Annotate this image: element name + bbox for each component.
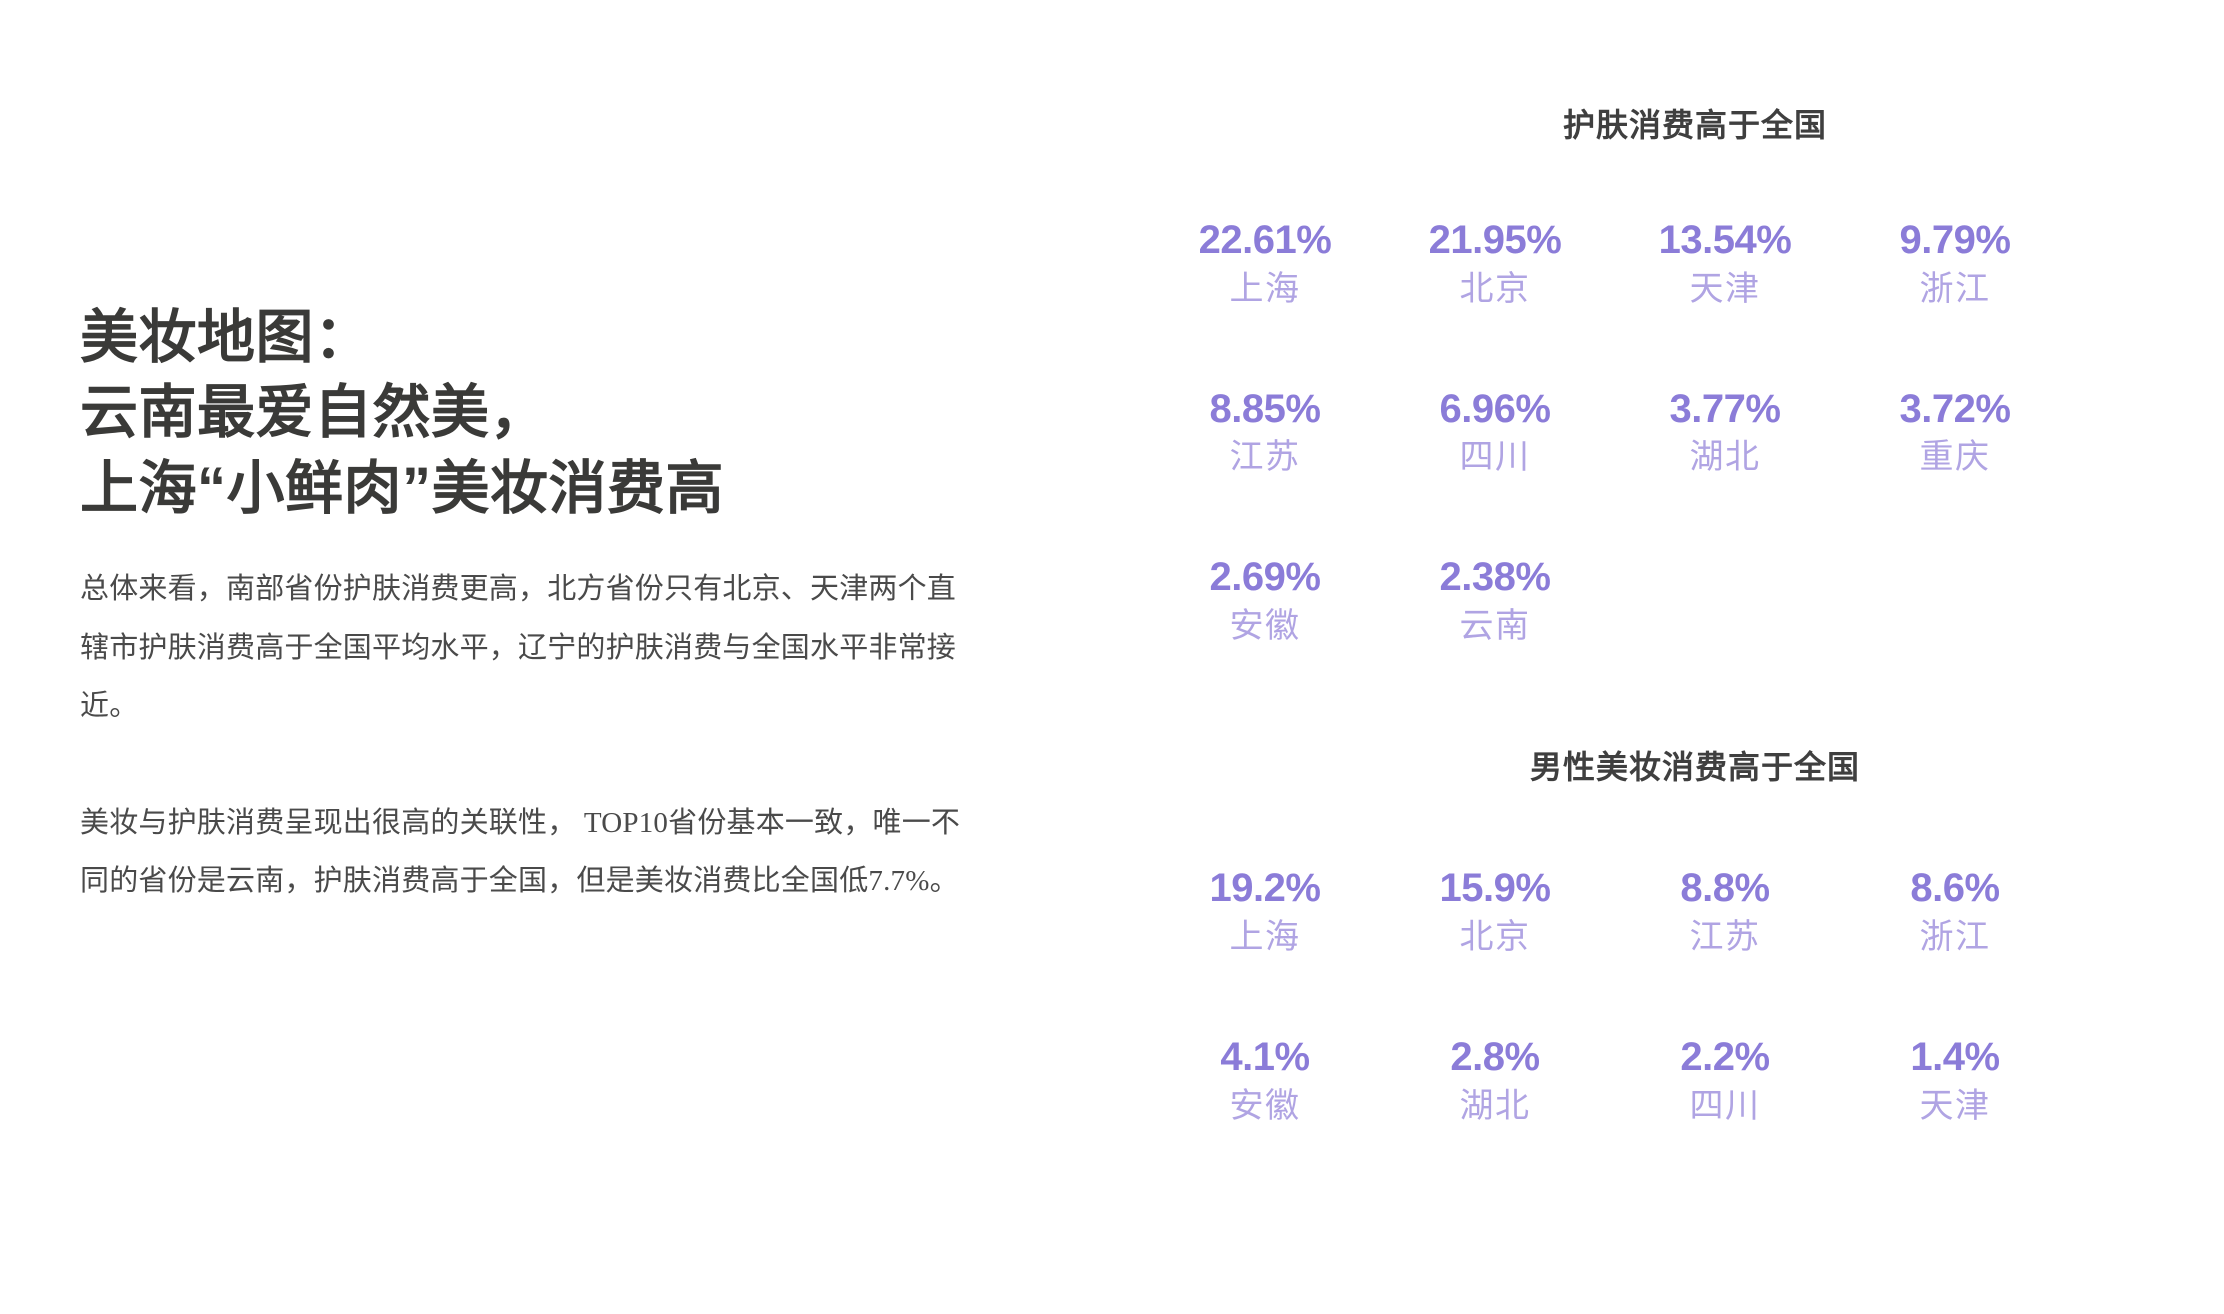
- article-paragraph-2: 美妆与护肤消费呈现出很高的关联性， TOP10省份基本一致，唯一不同的省份是云南…: [80, 794, 985, 911]
- stat-label: 重庆: [1840, 435, 2070, 481]
- stat-cell-beijing-skincare[interactable]: 21.95% 北京: [1380, 218, 1610, 313]
- stat-cell-shanghai-skincare[interactable]: 22.61% 上海: [1150, 218, 1380, 313]
- stat-value: 3.77%: [1610, 387, 1840, 432]
- stat-value: 2.38%: [1380, 555, 1610, 600]
- stat-value: 3.72%: [1840, 387, 2070, 432]
- stat-value: 4.1%: [1150, 1035, 1380, 1080]
- stat-label: 云南: [1380, 604, 1610, 650]
- stat-label: 四川: [1610, 1084, 1840, 1130]
- stat-value: 2.69%: [1150, 555, 1380, 600]
- stat-value: 8.6%: [1840, 866, 2070, 911]
- stat-cell-sichuan-skincare[interactable]: 6.96% 四川: [1380, 387, 1610, 482]
- stat-label: 浙江: [1840, 267, 2070, 313]
- stat-cell-tianjin-male[interactable]: 1.4% 天津: [1840, 1035, 2070, 1130]
- stat-value: 8.8%: [1610, 866, 1840, 911]
- stat-section-skincare: 护肤消费高于全国 22.61% 上海 21.95% 北京 13.54% 天津 9…: [1150, 100, 2180, 650]
- stat-value: 19.2%: [1150, 866, 1380, 911]
- statistics-panel: 护肤消费高于全国 22.61% 上海 21.95% 北京 13.54% 天津 9…: [1150, 100, 2180, 1129]
- stat-label: 江苏: [1610, 915, 1840, 961]
- article-panel: 美妆地图： 云南最爱自然美， 上海“小鲜肉”美妆消费高 总体来看，南部省份护肤消…: [80, 300, 1040, 911]
- stat-label: 安徽: [1150, 1084, 1380, 1130]
- stat-value: 21.95%: [1380, 218, 1610, 263]
- stat-label: 四川: [1380, 435, 1610, 481]
- stat-cell-zhejiang-male[interactable]: 8.6% 浙江: [1840, 866, 2070, 961]
- stat-label: 北京: [1380, 267, 1610, 313]
- stat-cell-anhui-male[interactable]: 4.1% 安徽: [1150, 1035, 1380, 1130]
- stat-value: 15.9%: [1380, 866, 1610, 911]
- section-title-skincare: 护肤消费高于全国: [1150, 100, 2180, 146]
- stat-label: 湖北: [1610, 435, 1840, 481]
- stat-grid-skincare: 22.61% 上海 21.95% 北京 13.54% 天津 9.79% 浙江 8…: [1150, 218, 2070, 650]
- stat-cell-zhejiang-skincare[interactable]: 9.79% 浙江: [1840, 218, 2070, 313]
- stat-value: 13.54%: [1610, 218, 1840, 263]
- stat-label: 上海: [1150, 267, 1380, 313]
- stat-cell-hubei-male[interactable]: 2.8% 湖北: [1380, 1035, 1610, 1130]
- stat-cell-jiangsu-skincare[interactable]: 8.85% 江苏: [1150, 387, 1380, 482]
- stat-cell-tianjin-skincare[interactable]: 13.54% 天津: [1610, 218, 1840, 313]
- stat-value: 2.8%: [1380, 1035, 1610, 1080]
- stat-value: 9.79%: [1840, 218, 2070, 263]
- stat-label: 北京: [1380, 915, 1610, 961]
- stat-label: 湖北: [1380, 1084, 1610, 1130]
- stat-cell-anhui-skincare[interactable]: 2.69% 安徽: [1150, 555, 1380, 650]
- stat-cell-yunnan-skincare[interactable]: 2.38% 云南: [1380, 555, 1610, 650]
- stat-section-male-cosmetics: 男性美妆消费高于全国 19.2% 上海 15.9% 北京 8.8% 江苏 8.6…: [1150, 742, 2180, 1129]
- section-title-male-cosmetics: 男性美妆消费高于全国: [1150, 742, 2180, 788]
- stat-cell-hubei-skincare[interactable]: 3.77% 湖北: [1610, 387, 1840, 482]
- stat-label: 安徽: [1150, 604, 1380, 650]
- stat-label: 浙江: [1840, 915, 2070, 961]
- stat-value: 2.2%: [1610, 1035, 1840, 1080]
- stat-value: 8.85%: [1150, 387, 1380, 432]
- stat-cell-shanghai-male[interactable]: 19.2% 上海: [1150, 866, 1380, 961]
- stat-cell-jiangsu-male[interactable]: 8.8% 江苏: [1610, 866, 1840, 961]
- stat-value: 1.4%: [1840, 1035, 2070, 1080]
- page-title: 美妆地图： 云南最爱自然美， 上海“小鲜肉”美妆消费高: [80, 300, 1040, 526]
- slide-canvas: 美妆地图： 云南最爱自然美， 上海“小鲜肉”美妆消费高 总体来看，南部省份护肤消…: [0, 0, 2224, 1314]
- stat-cell-sichuan-male[interactable]: 2.2% 四川: [1610, 1035, 1840, 1130]
- stat-label: 天津: [1840, 1084, 2070, 1130]
- article-paragraph-1: 总体来看，南部省份护肤消费更高，北方省份只有北京、天津两个直辖市护肤消费高于全国…: [80, 560, 985, 736]
- stat-cell-chongqing-skincare[interactable]: 3.72% 重庆: [1840, 387, 2070, 482]
- stat-label: 天津: [1610, 267, 1840, 313]
- stat-cell-beijing-male[interactable]: 15.9% 北京: [1380, 866, 1610, 961]
- stat-label: 上海: [1150, 915, 1380, 961]
- stat-label: 江苏: [1150, 435, 1380, 481]
- stat-value: 6.96%: [1380, 387, 1610, 432]
- stat-grid-male-cosmetics: 19.2% 上海 15.9% 北京 8.8% 江苏 8.6% 浙江 4.1%: [1150, 866, 2070, 1129]
- stat-value: 22.61%: [1150, 218, 1380, 263]
